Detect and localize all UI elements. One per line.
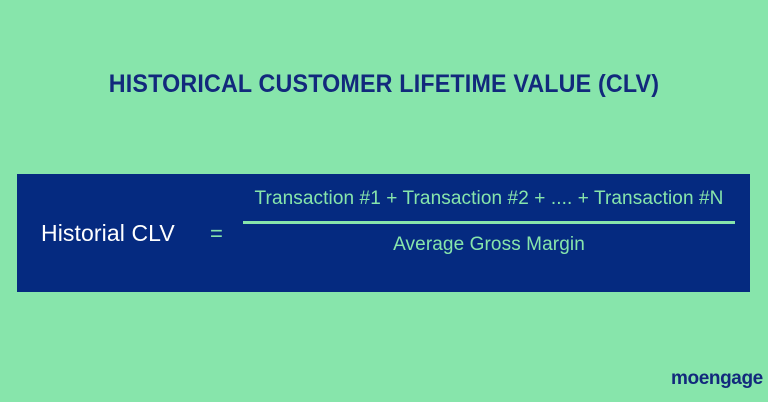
formula-fraction: Transaction #1 + Transaction #2 + .... +… — [243, 186, 735, 258]
fraction-bar — [243, 221, 735, 224]
fraction-numerator: Transaction #1 + Transaction #2 + .... +… — [243, 186, 735, 212]
fraction-denominator: Average Gross Margin — [243, 232, 735, 258]
equals-sign: = — [210, 221, 223, 247]
moengage-logo: moengage — [671, 369, 763, 389]
formula-left-side-label: Historial CLV — [41, 220, 175, 247]
formula-panel: Historial CLV = Transaction #1 + Transac… — [17, 174, 750, 292]
infographic-canvas: HISTORICAL CUSTOMER LIFETIME VALUE (CLV)… — [0, 0, 768, 402]
page-title: HISTORICAL CUSTOMER LIFETIME VALUE (CLV) — [27, 69, 741, 99]
